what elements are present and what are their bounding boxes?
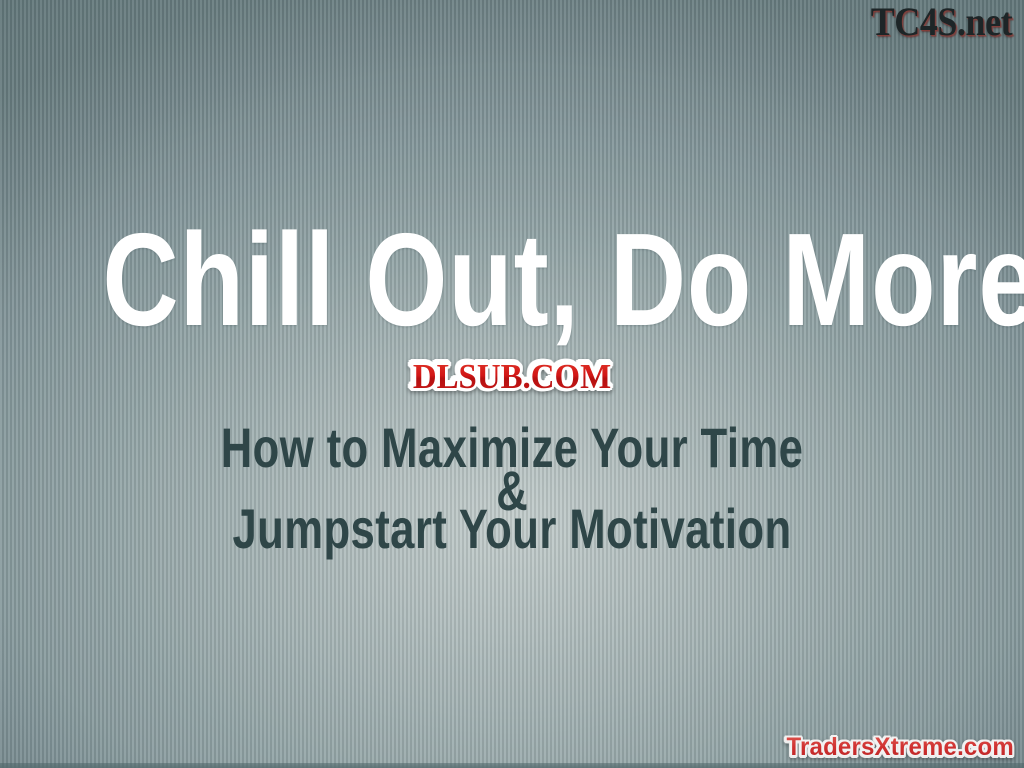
presentation-slide: Chill Out, Do More How to Maximize Your … — [0, 0, 1024, 768]
watermark-tradersxtreme: TradersXtreme.com — [787, 733, 1014, 762]
watermark-tc4s: TC4S.net — [871, 1, 1012, 43]
watermark-dlsub: DLSUB.COM — [413, 357, 611, 397]
slide-subtitle-block: How to Maximize Your Time & Jumpstart Yo… — [0, 420, 1024, 557]
slide-title: Chill Out, Do More — [102, 214, 921, 346]
slide-subtitle-line-2: Jumpstart Your Motivation — [113, 501, 912, 557]
